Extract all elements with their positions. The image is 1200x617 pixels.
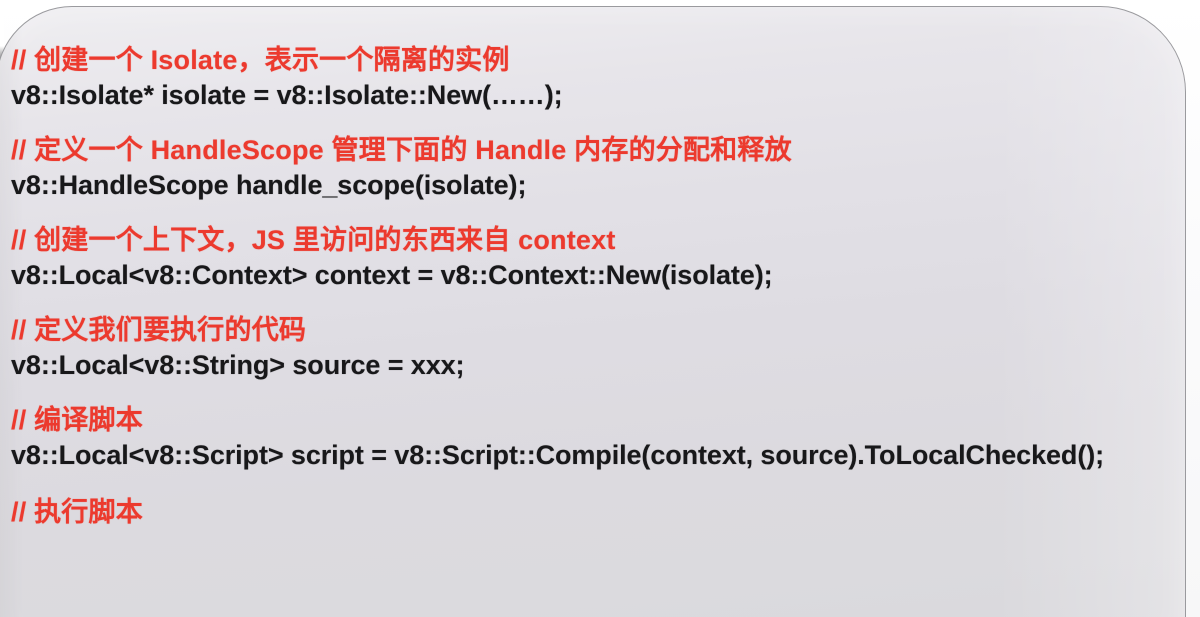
code-line-handlescope: v8::HandleScope handle_scope(isolate); xyxy=(11,167,1179,203)
code-block-source: // 定义我们要执行的代码 v8::Local<v8::String> sour… xyxy=(11,313,1179,383)
code-line-isolate: v8::Isolate* isolate = v8::Isolate::New(… xyxy=(11,77,1179,113)
comment-line-handlescope: // 定义一个 HandleScope 管理下面的 Handle 内存的分配和释… xyxy=(11,133,1179,167)
slide-screenshot: // 创建一个 Isolate，表示一个隔离的实例 v8::Isolate* i… xyxy=(0,0,1200,617)
code-listing: // 创建一个 Isolate，表示一个隔离的实例 v8::Isolate* i… xyxy=(11,43,1179,617)
code-line-compile: v8::Local<v8::Script> script = v8::Scrip… xyxy=(11,437,1179,473)
comment-line-context: // 创建一个上下文，JS 里访问的东西来自 context xyxy=(11,223,1179,257)
comment-line-run: // 执行脚本 xyxy=(11,495,1179,529)
code-block-isolate: // 创建一个 Isolate，表示一个隔离的实例 v8::Isolate* i… xyxy=(11,43,1179,113)
comment-line-compile: // 编译脚本 xyxy=(11,403,1179,437)
code-slide-card: // 创建一个 Isolate，表示一个隔离的实例 v8::Isolate* i… xyxy=(0,6,1186,617)
code-block-run: // 执行脚本 xyxy=(11,495,1179,529)
code-line-context: v8::Local<v8::Context> context = v8::Con… xyxy=(11,257,1179,293)
comment-line-isolate: // 创建一个 Isolate，表示一个隔离的实例 xyxy=(11,43,1179,77)
code-block-handlescope: // 定义一个 HandleScope 管理下面的 Handle 内存的分配和释… xyxy=(11,133,1179,203)
code-block-context: // 创建一个上下文，JS 里访问的东西来自 context v8::Local… xyxy=(11,223,1179,293)
comment-line-source: // 定义我们要执行的代码 xyxy=(11,313,1179,347)
code-line-source: v8::Local<v8::String> source = xxx; xyxy=(11,347,1179,383)
code-block-compile: // 编译脚本 v8::Local<v8::Script> script = v… xyxy=(11,403,1179,473)
